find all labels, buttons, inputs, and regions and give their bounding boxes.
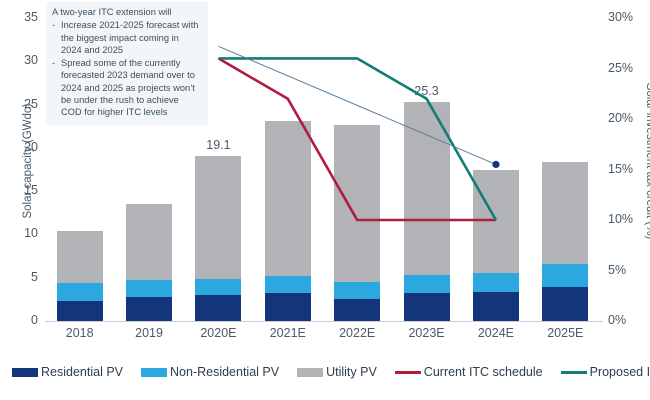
bar-segment-utility[interactable] <box>265 121 311 276</box>
bar-segment-non-residential[interactable] <box>57 283 103 301</box>
legend-item[interactable]: Residential PV <box>12 365 123 379</box>
y-right-tick-30pct: 30% <box>608 11 648 24</box>
callout-box: A two-year ITC extension will -Increase … <box>46 2 208 125</box>
bar-segment-non-residential[interactable] <box>473 273 519 291</box>
y-left-tick-35: 35 <box>8 11 38 24</box>
y-right-tick-0pct: 0% <box>608 314 648 327</box>
bar-segment-residential[interactable] <box>404 293 450 321</box>
y-right-tick-20pct: 20% <box>608 112 648 125</box>
y-axis-right-ticks: 0%5%10%15%20%25%30% <box>608 0 648 400</box>
bar-total-label: 19.1 <box>178 138 258 152</box>
legend-label: Utility PV <box>326 365 377 379</box>
x-axis-baseline <box>45 321 603 322</box>
bar-segment-non-residential[interactable] <box>265 276 311 293</box>
bar-segment-non-residential[interactable] <box>334 282 380 299</box>
legend-label: Current ITC schedule <box>424 365 543 379</box>
legend-label: Non-Residential PV <box>170 365 279 379</box>
callout-bullet-text: Increase 2021-2025 forecast with the big… <box>61 19 202 56</box>
legend-label: Residential PV <box>41 365 123 379</box>
x-axis-label-2020E: 2020E <box>183 326 253 340</box>
x-axis-label-2018: 2018 <box>45 326 115 340</box>
legend-item[interactable]: Non-Residential PV <box>141 365 279 379</box>
legend-swatch-box <box>141 368 167 377</box>
x-axis-label-2025E: 2025E <box>530 326 600 340</box>
bullet-dash-icon: - <box>52 19 61 56</box>
y-right-tick-10pct: 10% <box>608 213 648 226</box>
x-axis-label-2019: 2019 <box>114 326 184 340</box>
bar-segment-utility[interactable] <box>334 125 380 283</box>
bar-group[interactable] <box>265 18 311 321</box>
y-left-tick-5: 5 <box>8 271 38 284</box>
legend-swatch-line <box>395 371 421 374</box>
bar-segment-residential[interactable] <box>265 293 311 321</box>
y-right-tick-25pct: 25% <box>608 62 648 75</box>
bar-segment-residential[interactable] <box>334 299 380 321</box>
bar-segment-residential[interactable] <box>195 295 241 321</box>
legend-swatch-box <box>297 368 323 377</box>
y-right-tick-5pct: 5% <box>608 264 648 277</box>
callout-bullet-text: Spread some of the currently forecasted … <box>61 57 202 119</box>
legend-item[interactable]: Utility PV <box>297 365 377 379</box>
bar-segment-non-residential[interactable] <box>404 275 450 293</box>
solar-capacity-itc-chart: Solar capacity (GWdc) Solar investment t… <box>0 0 650 400</box>
legend-swatch-line <box>561 371 587 374</box>
x-axis-label-2022E: 2022E <box>322 326 392 340</box>
y-left-tick-30: 30 <box>8 54 38 67</box>
bar-segment-utility[interactable] <box>57 231 103 283</box>
bar-segment-residential[interactable] <box>57 301 103 321</box>
x-axis-labels: 201820192020E2021E2022E2023E2024E2025E <box>45 326 600 346</box>
bar-segment-utility[interactable] <box>542 162 588 264</box>
bar-group[interactable] <box>542 18 588 321</box>
bar-total-label: 25.3 <box>387 84 467 98</box>
y-axis-left-ticks: 05101520253035 <box>8 0 38 400</box>
bar-group[interactable] <box>334 18 380 321</box>
x-axis-label-2023E: 2023E <box>392 326 462 340</box>
x-axis-label-2021E: 2021E <box>253 326 323 340</box>
y-left-tick-0: 0 <box>8 314 38 327</box>
y-left-tick-15: 15 <box>8 184 38 197</box>
bar-segment-non-residential[interactable] <box>126 280 172 296</box>
callout-bullet-list: -Increase 2021-2025 forecast with the bi… <box>52 19 202 119</box>
bar-segment-non-residential[interactable] <box>542 264 588 287</box>
chart-legend: Residential PVNon-Residential PVUtility … <box>12 362 650 382</box>
bar-segment-utility[interactable] <box>404 102 450 275</box>
y-left-tick-25: 25 <box>8 98 38 111</box>
x-axis-label-2024E: 2024E <box>461 326 531 340</box>
bar-segment-utility[interactable] <box>126 204 172 280</box>
y-left-tick-10: 10 <box>8 227 38 240</box>
legend-label: Proposed ITC schedule <box>590 365 650 379</box>
callout-heading: A two-year ITC extension will <box>52 6 202 18</box>
bar-group[interactable]: 25.3 <box>404 18 450 321</box>
legend-swatch-box <box>12 368 38 377</box>
legend-item[interactable]: Current ITC schedule <box>395 365 543 379</box>
bar-segment-utility[interactable] <box>473 170 519 273</box>
bullet-dash-icon: - <box>52 57 61 119</box>
bar-segment-utility[interactable] <box>195 156 241 279</box>
bar-segment-residential[interactable] <box>542 287 588 321</box>
bar-segment-residential[interactable] <box>126 297 172 321</box>
callout-bullet: -Spread some of the currently forecasted… <box>52 57 202 119</box>
callout-bullet: -Increase 2021-2025 forecast with the bi… <box>52 19 202 56</box>
bar-segment-non-residential[interactable] <box>195 279 241 295</box>
y-left-tick-20: 20 <box>8 141 38 154</box>
bar-group[interactable] <box>473 18 519 321</box>
legend-item[interactable]: Proposed ITC schedule <box>561 365 650 379</box>
bar-segment-residential[interactable] <box>473 292 519 321</box>
y-right-tick-15pct: 15% <box>608 163 648 176</box>
